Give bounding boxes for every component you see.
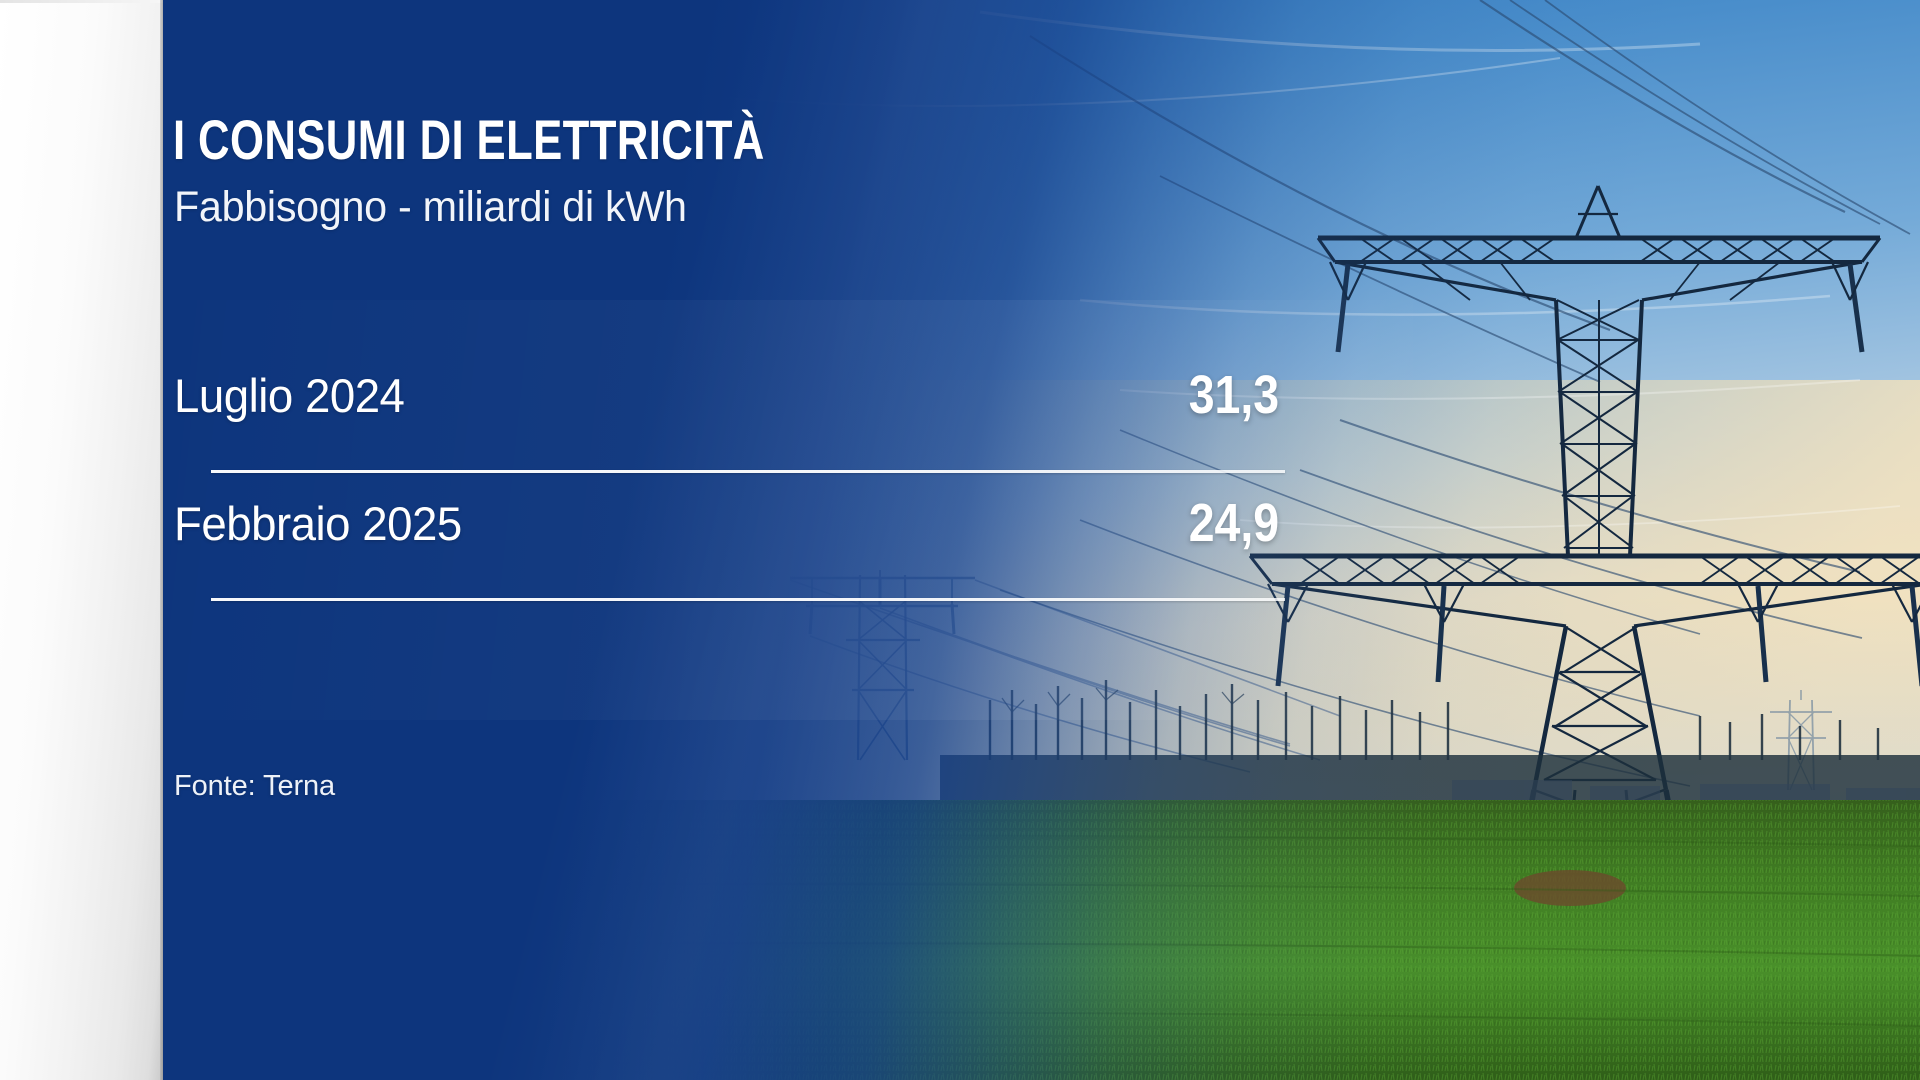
infographic-slide: I CONSUMI DI ELETTRICITÀ Fabbisogno - mi… [0,0,1920,1080]
content-area: I CONSUMI DI ELETTRICITÀ Fabbisogno - mi… [173,0,1473,1080]
row-content: Luglio 2024 31,3 [173,345,1285,445]
left-edge-strip [0,0,163,1080]
page-subtitle: Fabbisogno - miliardi di kWh [174,186,687,229]
source-attribution: Fonte: Terna [174,770,335,803]
row-label-period: Febbraio 2025 [174,496,462,551]
row-content: Febbraio 2025 24,9 [173,473,1285,573]
data-rows: Luglio 2024 31,3 Febbraio 2025 24,9 [173,345,1285,601]
table-row: Luglio 2024 31,3 [173,345,1285,473]
left-strip-top-edge [0,0,163,3]
row-label-period: Luglio 2024 [174,368,404,423]
row-value-amount: 24,9 [1189,492,1279,554]
table-row: Febbraio 2025 24,9 [173,473,1285,601]
row-divider [211,598,1285,601]
row-value-amount: 31,3 [1189,364,1279,426]
page-title: I CONSUMI DI ELETTRICITÀ [173,112,765,168]
tower-base-mound [1514,870,1626,906]
